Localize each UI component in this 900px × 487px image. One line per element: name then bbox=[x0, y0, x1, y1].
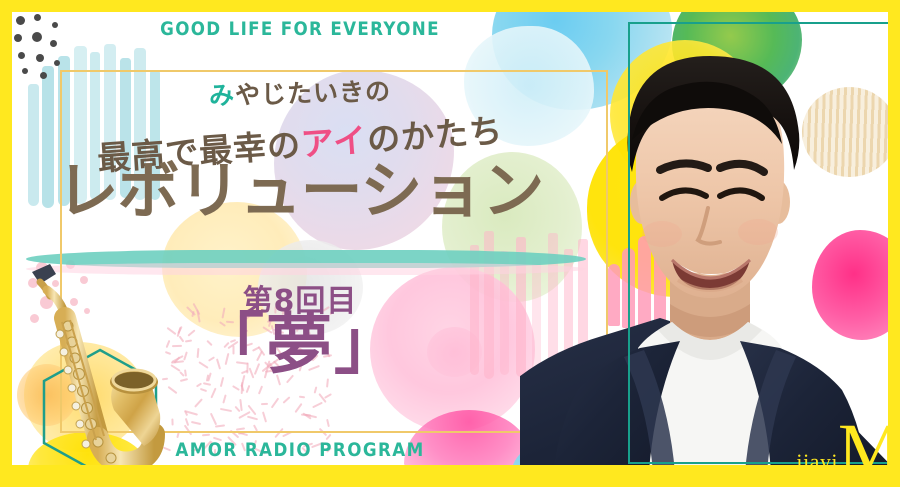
radio-program-banner: GOOD LIFE FOR EVERYONE みやじたいきの 最高で最幸のアイの… bbox=[0, 0, 900, 487]
episode-theme: 「夢」 bbox=[0, 312, 600, 378]
tagline-bottom: AMOR RADIO PROGRAM bbox=[36, 439, 564, 461]
program-title: レボリューション bbox=[0, 160, 600, 222]
host-line-rest: やじたいきの bbox=[235, 77, 392, 110]
tagline-top: GOOD LIFE FOR EVERYONE bbox=[36, 18, 564, 40]
host-line-highlight: み bbox=[209, 81, 236, 111]
outer-yellow-border-bottom bbox=[0, 465, 900, 487]
subtitle-post: のかたち bbox=[366, 111, 504, 159]
